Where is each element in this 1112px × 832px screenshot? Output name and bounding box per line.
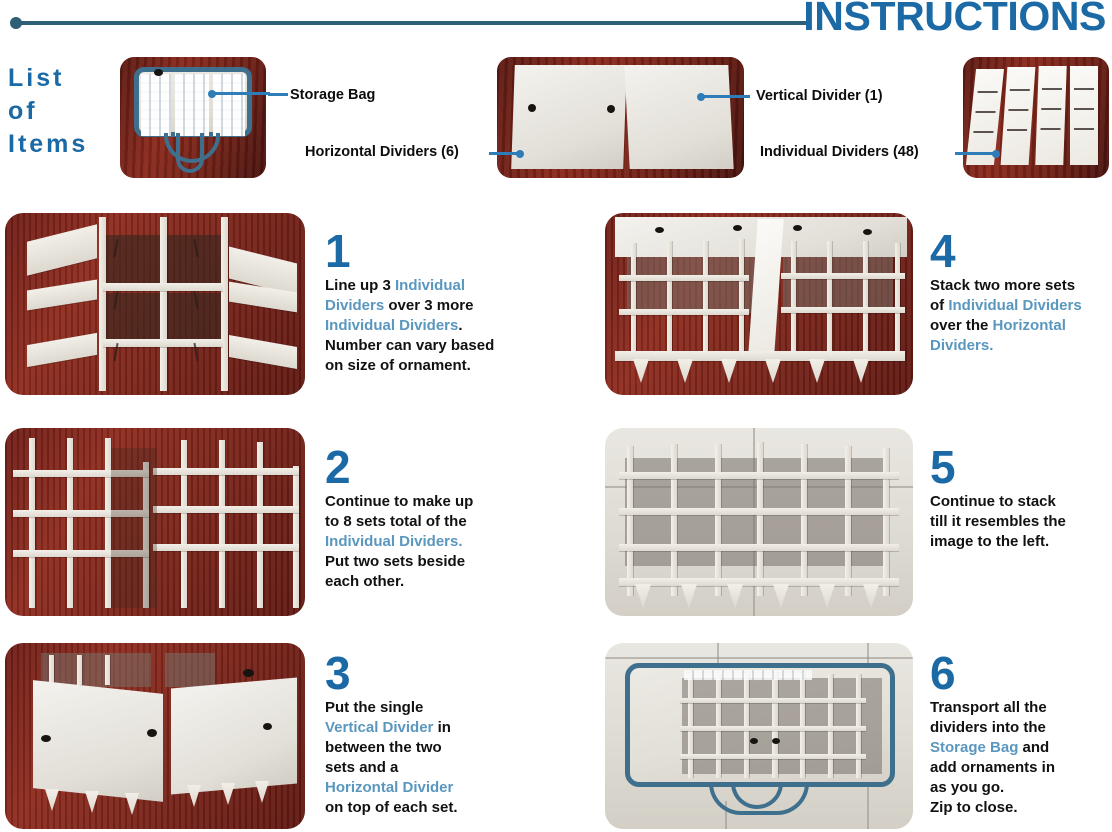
step-3-text: 3 Put the singleVertical Divider inbetwe… <box>325 650 540 818</box>
step-text-plain: till it resembles the <box>930 513 1066 530</box>
step-text-line: Transport all the <box>930 698 1110 718</box>
step-1-text: 1 Line up 3 IndividualDividers over 3 mo… <box>325 228 540 376</box>
step-text-line: Continue to stack <box>930 492 1110 512</box>
step-text-line: sets and a <box>325 758 540 778</box>
step-text-line: to 8 sets total of the <box>325 512 540 532</box>
step-text-plain: add ornaments in <box>930 759 1055 776</box>
step-text-plain: sets and a <box>325 759 398 776</box>
step-text-line: over the Horizontal <box>930 316 1110 336</box>
item-label-horizontal-dividers: Horizontal Dividers (6) <box>305 144 459 160</box>
step-text-plain: Put the single <box>325 699 423 716</box>
step-text-highlight: Horizontal <box>993 317 1066 334</box>
step-text-line: Vertical Divider in <box>325 718 540 738</box>
step-text-line: till it resembles the <box>930 512 1110 532</box>
step-text-plain: between the two <box>325 739 442 756</box>
step-text-plain: Zip to close. <box>930 799 1018 816</box>
step-3-number: 3 <box>325 650 540 696</box>
storage-bag-photo <box>120 57 266 178</box>
step-text-plain: . <box>458 317 462 334</box>
item-label-vertical-divider: Vertical Divider (1) <box>756 88 883 104</box>
step-text-line: on size of ornament. <box>325 356 540 376</box>
step-text-plain: each other. <box>325 573 404 590</box>
step-text-plain: over 3 more <box>384 297 473 314</box>
step-text-plain: on size of ornament. <box>325 357 471 374</box>
list-label-line-3: Items <box>8 128 118 161</box>
step-text-line: Dividers. <box>930 336 1110 356</box>
step-1-number: 1 <box>325 228 540 274</box>
step-1-body: Line up 3 IndividualDividers over 3 more… <box>325 276 540 376</box>
step-text-plain: Line up 3 <box>325 277 395 294</box>
item-label-individual-dividers: Individual Dividers (48) <box>760 144 919 160</box>
item-label-storage-bag: Storage Bag <box>290 87 375 103</box>
step-text-highlight: Storage Bag <box>930 739 1018 756</box>
step-text-line: add ornaments in <box>930 758 1110 778</box>
step-text-line: Zip to close. <box>930 798 1110 818</box>
step-text-highlight: Individual Dividers. <box>325 533 463 550</box>
horizontal-dividers-leader-line <box>489 152 519 155</box>
individual-dividers-photo <box>963 57 1109 178</box>
step-3-body: Put the singleVertical Divider inbetween… <box>325 698 540 818</box>
header-divider-line <box>18 21 808 25</box>
step-text-line: Individual Dividers. <box>325 532 540 552</box>
step-text-highlight: Dividers <box>325 297 384 314</box>
step-2-body: Continue to make upto 8 sets total of th… <box>325 492 540 592</box>
step-text-plain: on top of each set. <box>325 799 458 816</box>
storage-bag-leader-line-inner <box>212 92 270 95</box>
step-text-line: Individual Dividers. <box>325 316 540 336</box>
step-5-photo <box>605 428 913 616</box>
step-6-photo <box>605 643 913 829</box>
step-text-plain: Continue to stack <box>930 493 1056 510</box>
step-text-line: Number can vary based <box>325 336 540 356</box>
step-text-line: Put two sets beside <box>325 552 540 572</box>
step-text-plain: over the <box>930 317 993 334</box>
step-text-plain: image to the left. <box>930 533 1049 550</box>
step-text-line: image to the left. <box>930 532 1110 552</box>
step-5-text: 5 Continue to stacktill it resembles the… <box>930 444 1110 552</box>
step-text-line: between the two <box>325 738 540 758</box>
step-text-line: Dividers over 3 more <box>325 296 540 316</box>
list-of-items-label: List of Items <box>8 62 118 161</box>
step-2-number: 2 <box>325 444 540 490</box>
header: INSTRUCTIONS <box>0 0 1112 46</box>
step-text-line: Put the single <box>325 698 540 718</box>
storage-bag-leader-line <box>268 93 288 96</box>
step-4-number: 4 <box>930 228 1110 274</box>
step-6-body: Transport all thedividers into theStorag… <box>930 698 1110 818</box>
dividers-photo <box>497 57 744 178</box>
step-text-line: Horizontal Divider <box>325 778 540 798</box>
step-4-text: 4 Stack two more setsof Individual Divid… <box>930 228 1110 356</box>
step-text-line: on top of each set. <box>325 798 540 818</box>
vertical-divider-leader-line <box>700 95 750 98</box>
step-text-line: Stack two more sets <box>930 276 1110 296</box>
step-text-plain: Stack two more sets <box>930 277 1075 294</box>
step-text-plain: Continue to make up <box>325 493 473 510</box>
step-text-plain: Transport all the <box>930 699 1047 716</box>
step-text-plain: in <box>433 719 451 736</box>
step-text-line: Storage Bag and <box>930 738 1110 758</box>
step-5-body: Continue to stacktill it resembles theim… <box>930 492 1110 552</box>
step-1-photo <box>5 213 305 395</box>
step-text-line: dividers into the <box>930 718 1110 738</box>
list-label-line-2: of <box>8 95 118 128</box>
step-4-photo <box>605 213 913 395</box>
step-text-highlight: Individual Dividers <box>325 317 458 334</box>
step-2-text: 2 Continue to make upto 8 sets total of … <box>325 444 540 592</box>
page-title: INSTRUCTIONS <box>803 0 1106 39</box>
step-3-photo <box>5 643 305 829</box>
step-text-highlight: Dividers. <box>930 337 993 354</box>
step-6-text: 6 Transport all thedividers into theStor… <box>930 650 1110 818</box>
step-2-photo <box>5 428 305 616</box>
step-text-line: Continue to make up <box>325 492 540 512</box>
step-5-number: 5 <box>930 444 1110 490</box>
step-text-highlight: Horizontal Divider <box>325 779 453 796</box>
step-text-line: as you go. <box>930 778 1110 798</box>
step-text-plain: of <box>930 297 948 314</box>
step-text-plain: to 8 sets total of the <box>325 513 467 530</box>
step-text-line: of Individual Dividers <box>930 296 1110 316</box>
step-text-line: Line up 3 Individual <box>325 276 540 296</box>
step-text-plain: Number can vary based <box>325 337 494 354</box>
step-text-highlight: Individual <box>395 277 465 294</box>
step-text-line: each other. <box>325 572 540 592</box>
step-text-plain: as you go. <box>930 779 1004 796</box>
step-text-plain: dividers into the <box>930 719 1046 736</box>
step-text-plain: and <box>1018 739 1049 756</box>
step-4-body: Stack two more setsof Individual Divider… <box>930 276 1110 356</box>
step-6-number: 6 <box>930 650 1110 696</box>
individual-dividers-leader-line <box>955 152 995 155</box>
step-text-highlight: Individual Dividers <box>948 297 1081 314</box>
step-text-plain: Put two sets beside <box>325 553 465 570</box>
instruction-sheet: INSTRUCTIONS List of Items Storage Bag V… <box>0 0 1112 832</box>
list-label-line-1: List <box>8 62 118 95</box>
step-text-highlight: Vertical Divider <box>325 719 433 736</box>
